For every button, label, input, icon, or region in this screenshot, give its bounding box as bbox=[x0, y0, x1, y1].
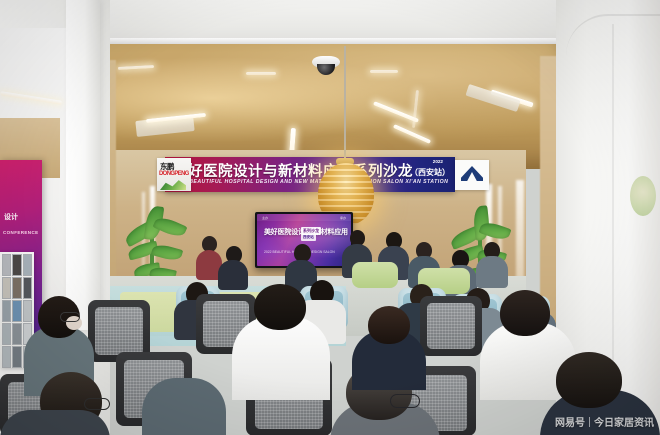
person-torso bbox=[476, 256, 508, 288]
leaf-icon bbox=[160, 178, 186, 190]
board-photo-cell bbox=[23, 277, 32, 299]
left-wall-column bbox=[66, 0, 100, 330]
chair-mesh-3-seatback bbox=[427, 303, 475, 349]
board-photo-cell bbox=[12, 277, 21, 299]
chair-mesh-3 bbox=[420, 296, 482, 356]
photo-scene: 美好医院设计与新材料应用系列沙龙 2022 BEAUTIFUL HOSPITAL… bbox=[0, 0, 660, 435]
banner-logo-dongpeng: 东鹏 DONGPENG bbox=[157, 158, 191, 191]
ceiling-tube-light-8 bbox=[246, 72, 276, 75]
board-photo-cell bbox=[2, 277, 11, 299]
tv-slide-badge-2: 西安站 bbox=[301, 234, 316, 241]
board-photo-cell bbox=[2, 300, 11, 322]
person-head-far-right bbox=[556, 352, 622, 408]
board-photo-cell bbox=[12, 323, 21, 345]
tv-topbar-left: 主办 bbox=[262, 216, 268, 220]
standee-line-2: CONFERENCE bbox=[3, 230, 39, 235]
person-head-center bbox=[254, 284, 306, 330]
plant-left-leaf-5 bbox=[151, 242, 183, 263]
banner-title-cn: 美好医院设计与新材料应用系列沙龙 bbox=[173, 160, 423, 181]
person-head-navy bbox=[368, 306, 410, 344]
watermark-brand: 网易号 bbox=[555, 414, 585, 429]
watermark-separator bbox=[589, 417, 590, 427]
lounge-seat-green bbox=[352, 262, 398, 288]
ceiling-edge-trim bbox=[56, 38, 560, 44]
board-photo-cell bbox=[12, 254, 21, 276]
board-photo-cell bbox=[2, 254, 11, 276]
dongpeng-logo-en: DONGPENG bbox=[159, 170, 189, 177]
pendant-lamp-cord bbox=[344, 46, 346, 162]
banner-year: 2022 bbox=[433, 159, 443, 164]
chair-mesh-1-seatback bbox=[95, 307, 143, 355]
board-photo-cell bbox=[12, 346, 21, 368]
ceiling-tube-light-9 bbox=[370, 70, 398, 73]
event-banner: 美好医院设计与新材料应用系列沙龙 2022 BEAUTIFUL HOSPITAL… bbox=[165, 157, 455, 192]
eyeglasses-icon bbox=[60, 312, 80, 322]
tv-topbar-right: 承办 bbox=[340, 216, 346, 220]
person-torso-2 bbox=[142, 378, 226, 435]
board-photo-cell bbox=[12, 300, 21, 322]
plant-left-leaf-3 bbox=[153, 214, 188, 240]
board-photo-cell bbox=[2, 323, 11, 345]
person-head-right bbox=[500, 290, 550, 336]
tv-slide-topbar: 主办 承办 bbox=[257, 214, 351, 221]
person-torso bbox=[218, 260, 248, 290]
banner-title-en: 2022 BEAUTIFUL HOSPITAL DESIGN AND NEW M… bbox=[174, 179, 434, 185]
mountain-mark-icon bbox=[461, 166, 483, 181]
board-photo-cell bbox=[23, 300, 32, 322]
watermark: 网易号 今日家居资讯 bbox=[555, 414, 654, 429]
standee-line-1: 设计 bbox=[4, 212, 18, 222]
banner-logo-partner bbox=[455, 160, 489, 190]
eyeglasses-icon bbox=[84, 398, 110, 410]
wall-plant-decoration bbox=[630, 176, 656, 216]
banner-city: （西安站） bbox=[410, 167, 450, 178]
board-photo-cell bbox=[23, 254, 32, 276]
watermark-account: 今日家居资讯 bbox=[594, 414, 654, 429]
eyeglasses-icon bbox=[390, 394, 420, 408]
board-photo-cell bbox=[2, 346, 11, 368]
right-wall-seam bbox=[612, 24, 614, 414]
person-torso-5 bbox=[0, 410, 110, 435]
